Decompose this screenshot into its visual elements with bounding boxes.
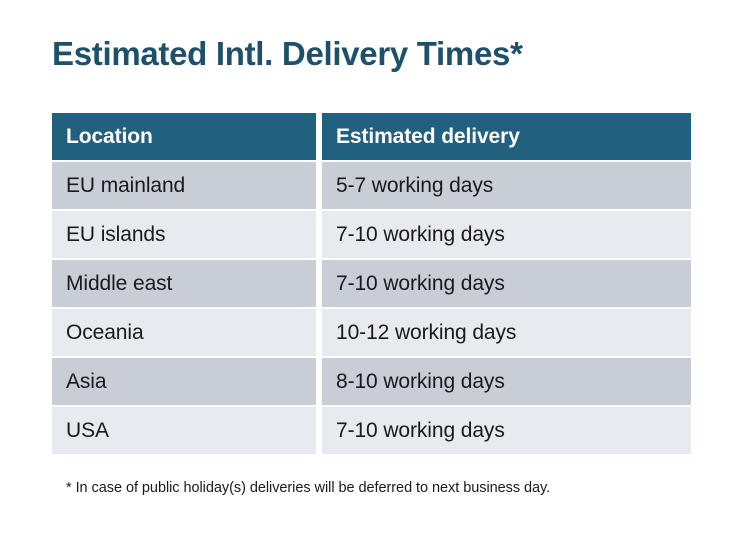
cell-location: EU mainland bbox=[52, 162, 316, 209]
table-row: Middle east 7-10 working days bbox=[52, 260, 691, 307]
column-header-location: Location bbox=[52, 113, 316, 160]
cell-estimated-delivery: 8-10 working days bbox=[322, 358, 691, 405]
table-body: EU mainland 5-7 working days EU islands … bbox=[52, 160, 691, 454]
page-title: Estimated Intl. Delivery Times* bbox=[52, 36, 523, 72]
cell-estimated-delivery: 10-12 working days bbox=[322, 309, 691, 356]
table-row: EU mainland 5-7 working days bbox=[52, 162, 691, 209]
cell-estimated-delivery: 7-10 working days bbox=[322, 211, 691, 258]
column-header-estimated-delivery: Estimated delivery bbox=[322, 113, 691, 160]
cell-location: EU islands bbox=[52, 211, 316, 258]
table-header-row: Location Estimated delivery bbox=[52, 113, 691, 160]
table-row: Oceania 10-12 working days bbox=[52, 309, 691, 356]
cell-estimated-delivery: 7-10 working days bbox=[322, 407, 691, 454]
cell-location: Asia bbox=[52, 358, 316, 405]
cell-location: USA bbox=[52, 407, 316, 454]
cell-estimated-delivery: 7-10 working days bbox=[322, 260, 691, 307]
table-row: EU islands 7-10 working days bbox=[52, 211, 691, 258]
cell-location: Middle east bbox=[52, 260, 316, 307]
cell-estimated-delivery: 5-7 working days bbox=[322, 162, 691, 209]
delivery-times-table: Location Estimated delivery EU mainland … bbox=[52, 113, 691, 454]
cell-location: Oceania bbox=[52, 309, 316, 356]
table-row: USA 7-10 working days bbox=[52, 407, 691, 454]
footnote-text: * In case of public holiday(s) deliverie… bbox=[66, 480, 550, 496]
delivery-times-page: Estimated Intl. Delivery Times* Location… bbox=[0, 0, 745, 536]
table-row: Asia 8-10 working days bbox=[52, 358, 691, 405]
